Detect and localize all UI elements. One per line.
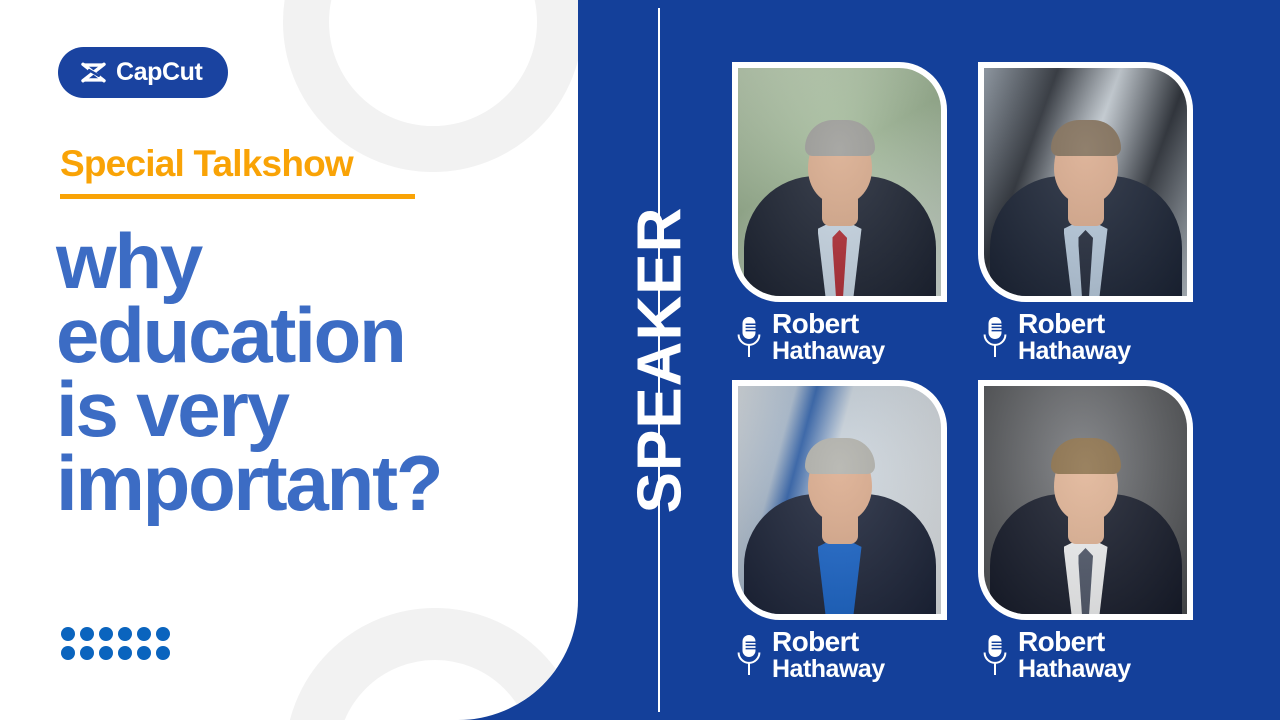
portrait-art: [984, 386, 1187, 614]
speaker-card[interactable]: Robert Hathaway: [732, 62, 947, 362]
speaker-card[interactable]: Robert Hathaway: [978, 380, 1193, 680]
photo-frame: [978, 380, 1193, 620]
speaker-first-name: Robert: [772, 310, 885, 338]
headline-line-1: why: [56, 224, 556, 298]
speaker-name: Robert Hathaway: [772, 310, 885, 364]
portrait-art: [738, 386, 941, 614]
speaker-name: Robert Hathaway: [1018, 310, 1131, 364]
dot: [61, 627, 75, 641]
decorative-ring-bottom: [285, 608, 578, 720]
dot: [99, 627, 113, 641]
portrait-art: [984, 68, 1187, 296]
speaker-first-name: Robert: [1018, 310, 1131, 338]
speaker-first-name: Robert: [1018, 628, 1131, 656]
portrait-art: [738, 68, 941, 296]
headline-line-3: is very: [56, 372, 556, 446]
dot: [118, 627, 132, 641]
capcut-logo-text: CapCut: [116, 58, 202, 87]
speaker-photo: [984, 68, 1187, 296]
speaker-name-row: Robert Hathaway: [982, 628, 1131, 682]
speaker-card[interactable]: Robert Hathaway: [978, 62, 1193, 362]
eyebrow-underline: [60, 194, 415, 199]
dot: [99, 646, 113, 660]
speaker-last-name: Hathaway: [772, 339, 885, 364]
decorative-dot-grid: [61, 627, 170, 660]
speaker-card[interactable]: Robert Hathaway: [732, 380, 947, 680]
speaker-photo: [984, 386, 1187, 614]
speaker-last-name: Hathaway: [1018, 339, 1131, 364]
poster-canvas: CapCut Special Talkshow why education is…: [0, 0, 1280, 720]
capcut-hourglass-icon: [80, 62, 107, 83]
speaker-label-text: SPEAKER: [625, 207, 696, 514]
microphone-icon: [982, 315, 1008, 359]
speaker-first-name: Robert: [772, 628, 885, 656]
speaker-name-row: Robert Hathaway: [982, 310, 1131, 364]
speaker-name: Robert Hathaway: [772, 628, 885, 682]
speaker-last-name: Hathaway: [772, 657, 885, 682]
left-content-panel: CapCut Special Talkshow why education is…: [0, 0, 578, 720]
speaker-photo: [738, 386, 941, 614]
dot: [137, 627, 151, 641]
photo-frame: [732, 62, 947, 302]
microphone-icon: [982, 633, 1008, 677]
eyebrow-label: Special Talkshow: [60, 145, 420, 184]
headline-line-2: education: [56, 298, 556, 372]
dot: [156, 627, 170, 641]
eyebrow-group: Special Talkshow: [60, 145, 420, 199]
page-title: why education is very important?: [56, 224, 556, 520]
photo-frame: [732, 380, 947, 620]
speaker-name-row: Robert Hathaway: [736, 628, 885, 682]
speaker-name: Robert Hathaway: [1018, 628, 1131, 682]
dot: [156, 646, 170, 660]
dot: [80, 646, 94, 660]
microphone-icon: [736, 315, 762, 359]
speaker-section-label: SPEAKER: [600, 0, 720, 720]
capcut-logo-badge[interactable]: CapCut: [58, 47, 228, 98]
headline-line-4: important?: [56, 446, 556, 520]
dot: [80, 627, 94, 641]
microphone-icon: [736, 633, 762, 677]
dot: [137, 646, 151, 660]
photo-frame: [978, 62, 1193, 302]
dot: [118, 646, 132, 660]
speaker-photo: [738, 68, 941, 296]
speaker-name-row: Robert Hathaway: [736, 310, 885, 364]
speaker-last-name: Hathaway: [1018, 657, 1131, 682]
dot: [61, 646, 75, 660]
speaker-card-grid: Robert Hathaway: [732, 62, 1212, 682]
